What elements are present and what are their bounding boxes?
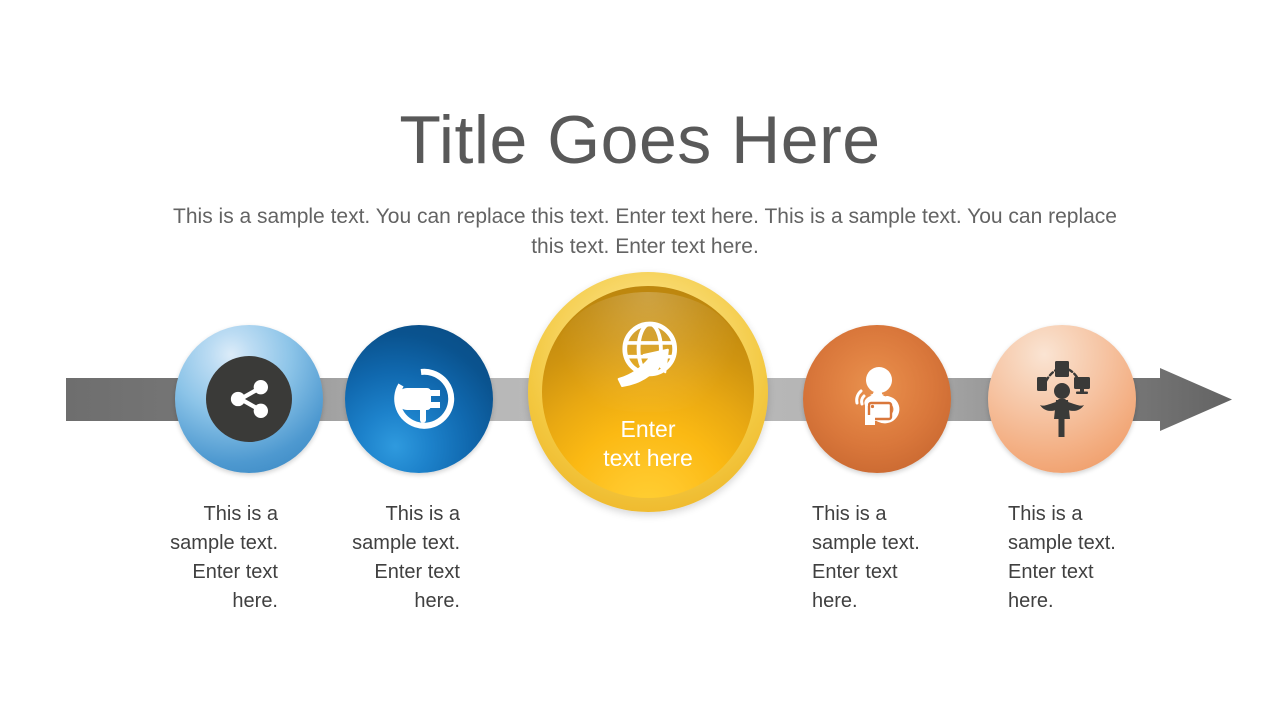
globe-arrow-icon	[605, 312, 691, 403]
person-juggling-devices-icon	[988, 325, 1136, 473]
share-nodes-icon	[175, 325, 323, 473]
step-circle-1[interactable]	[175, 325, 323, 473]
step-circle-4[interactable]	[803, 325, 951, 473]
step-circle-center[interactable]: Enter text here	[528, 272, 768, 512]
step-caption-1: This is a sample text. Enter text here.	[120, 500, 278, 616]
step-circle-5[interactable]	[988, 325, 1136, 473]
page-title: Title Goes Here	[0, 100, 1280, 180]
step-caption-5: This is a sample text. Enter text here.	[1008, 500, 1178, 616]
person-tablet-wireless-icon	[803, 325, 951, 473]
step-caption-2: This is a sample text. Enter text here.	[302, 500, 460, 616]
page-subtitle: This is a sample text. You can replace t…	[165, 202, 1125, 262]
step-circle-2[interactable]	[345, 325, 493, 473]
center-label: Enter text here	[603, 415, 693, 473]
power-plug-icon	[345, 325, 493, 473]
step-caption-4: This is a sample text. Enter text here.	[812, 500, 982, 616]
slide-canvas: Title Goes Here This is a sample text. Y…	[0, 0, 1280, 720]
